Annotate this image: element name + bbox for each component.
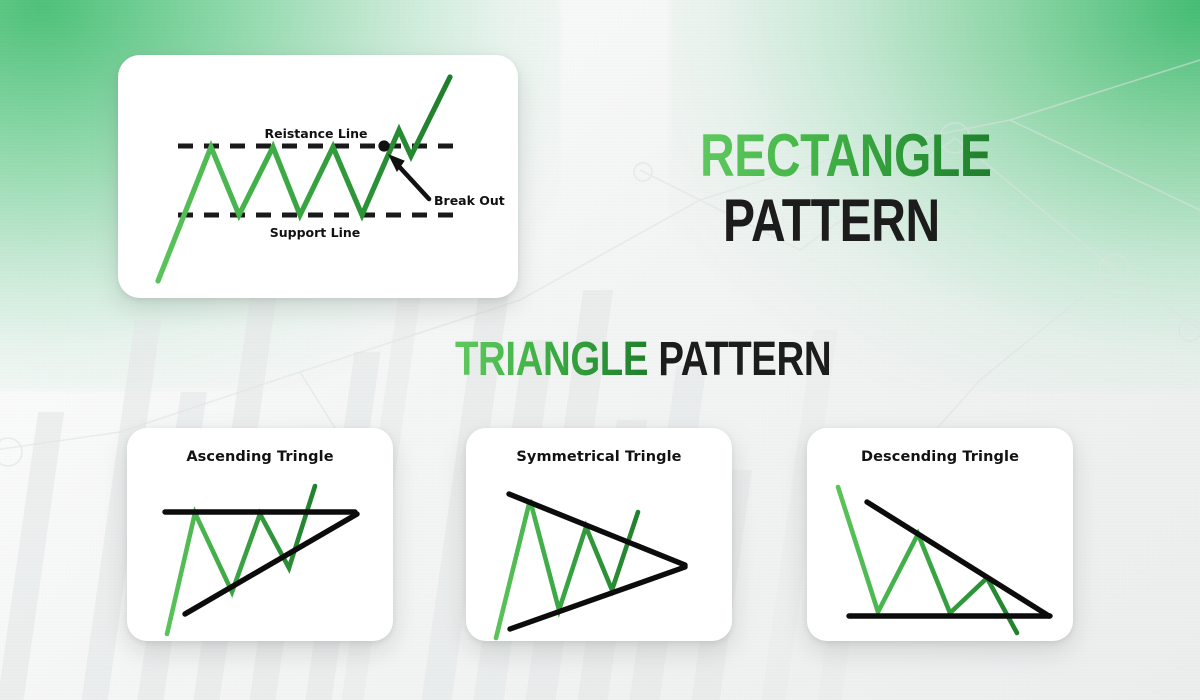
- support-line-label: Support Line: [270, 225, 361, 240]
- resistance-line-label: Reistance Line: [264, 126, 367, 141]
- price-zigzag: [158, 77, 450, 281]
- infographic-canvas: Reistance Line Support Line Break Out RE…: [0, 0, 1200, 700]
- price-zigzag: [838, 487, 1017, 633]
- descending-triangle-card[interactable]: Descending Tringle: [807, 428, 1073, 641]
- triangle-heading-green: TRIANGLE: [455, 333, 648, 386]
- upper-falling-trendline: [867, 502, 1049, 616]
- triangle-heading: TRIANGLE PATTERN: [455, 336, 831, 384]
- breakout-label: Break Out: [434, 193, 505, 208]
- rectangle-heading-dark: PATTERN: [723, 191, 940, 251]
- rising-support-line: [185, 514, 357, 614]
- ascending-triangle-title: Ascending Tringle: [127, 449, 393, 465]
- triangle-heading-dark: PATTERN: [658, 333, 831, 386]
- breakout-arrow: [389, 155, 429, 199]
- price-zigzag: [496, 500, 638, 638]
- symmetrical-triangle-title: Symmetrical Tringle: [466, 449, 732, 465]
- lower-rising-trendline: [510, 567, 685, 629]
- descending-triangle-title: Descending Tringle: [807, 449, 1073, 465]
- rectangle-pattern-chart: Reistance Line Support Line Break Out: [118, 55, 518, 298]
- ascending-triangle-card[interactable]: Ascending Tringle: [127, 428, 393, 641]
- rectangle-heading-green: RECTANGLE: [700, 126, 992, 186]
- symmetrical-triangle-card[interactable]: Symmetrical Tringle: [466, 428, 732, 641]
- rectangle-pattern-card[interactable]: Reistance Line Support Line Break Out: [118, 55, 518, 298]
- breakout-point-marker: [378, 140, 389, 151]
